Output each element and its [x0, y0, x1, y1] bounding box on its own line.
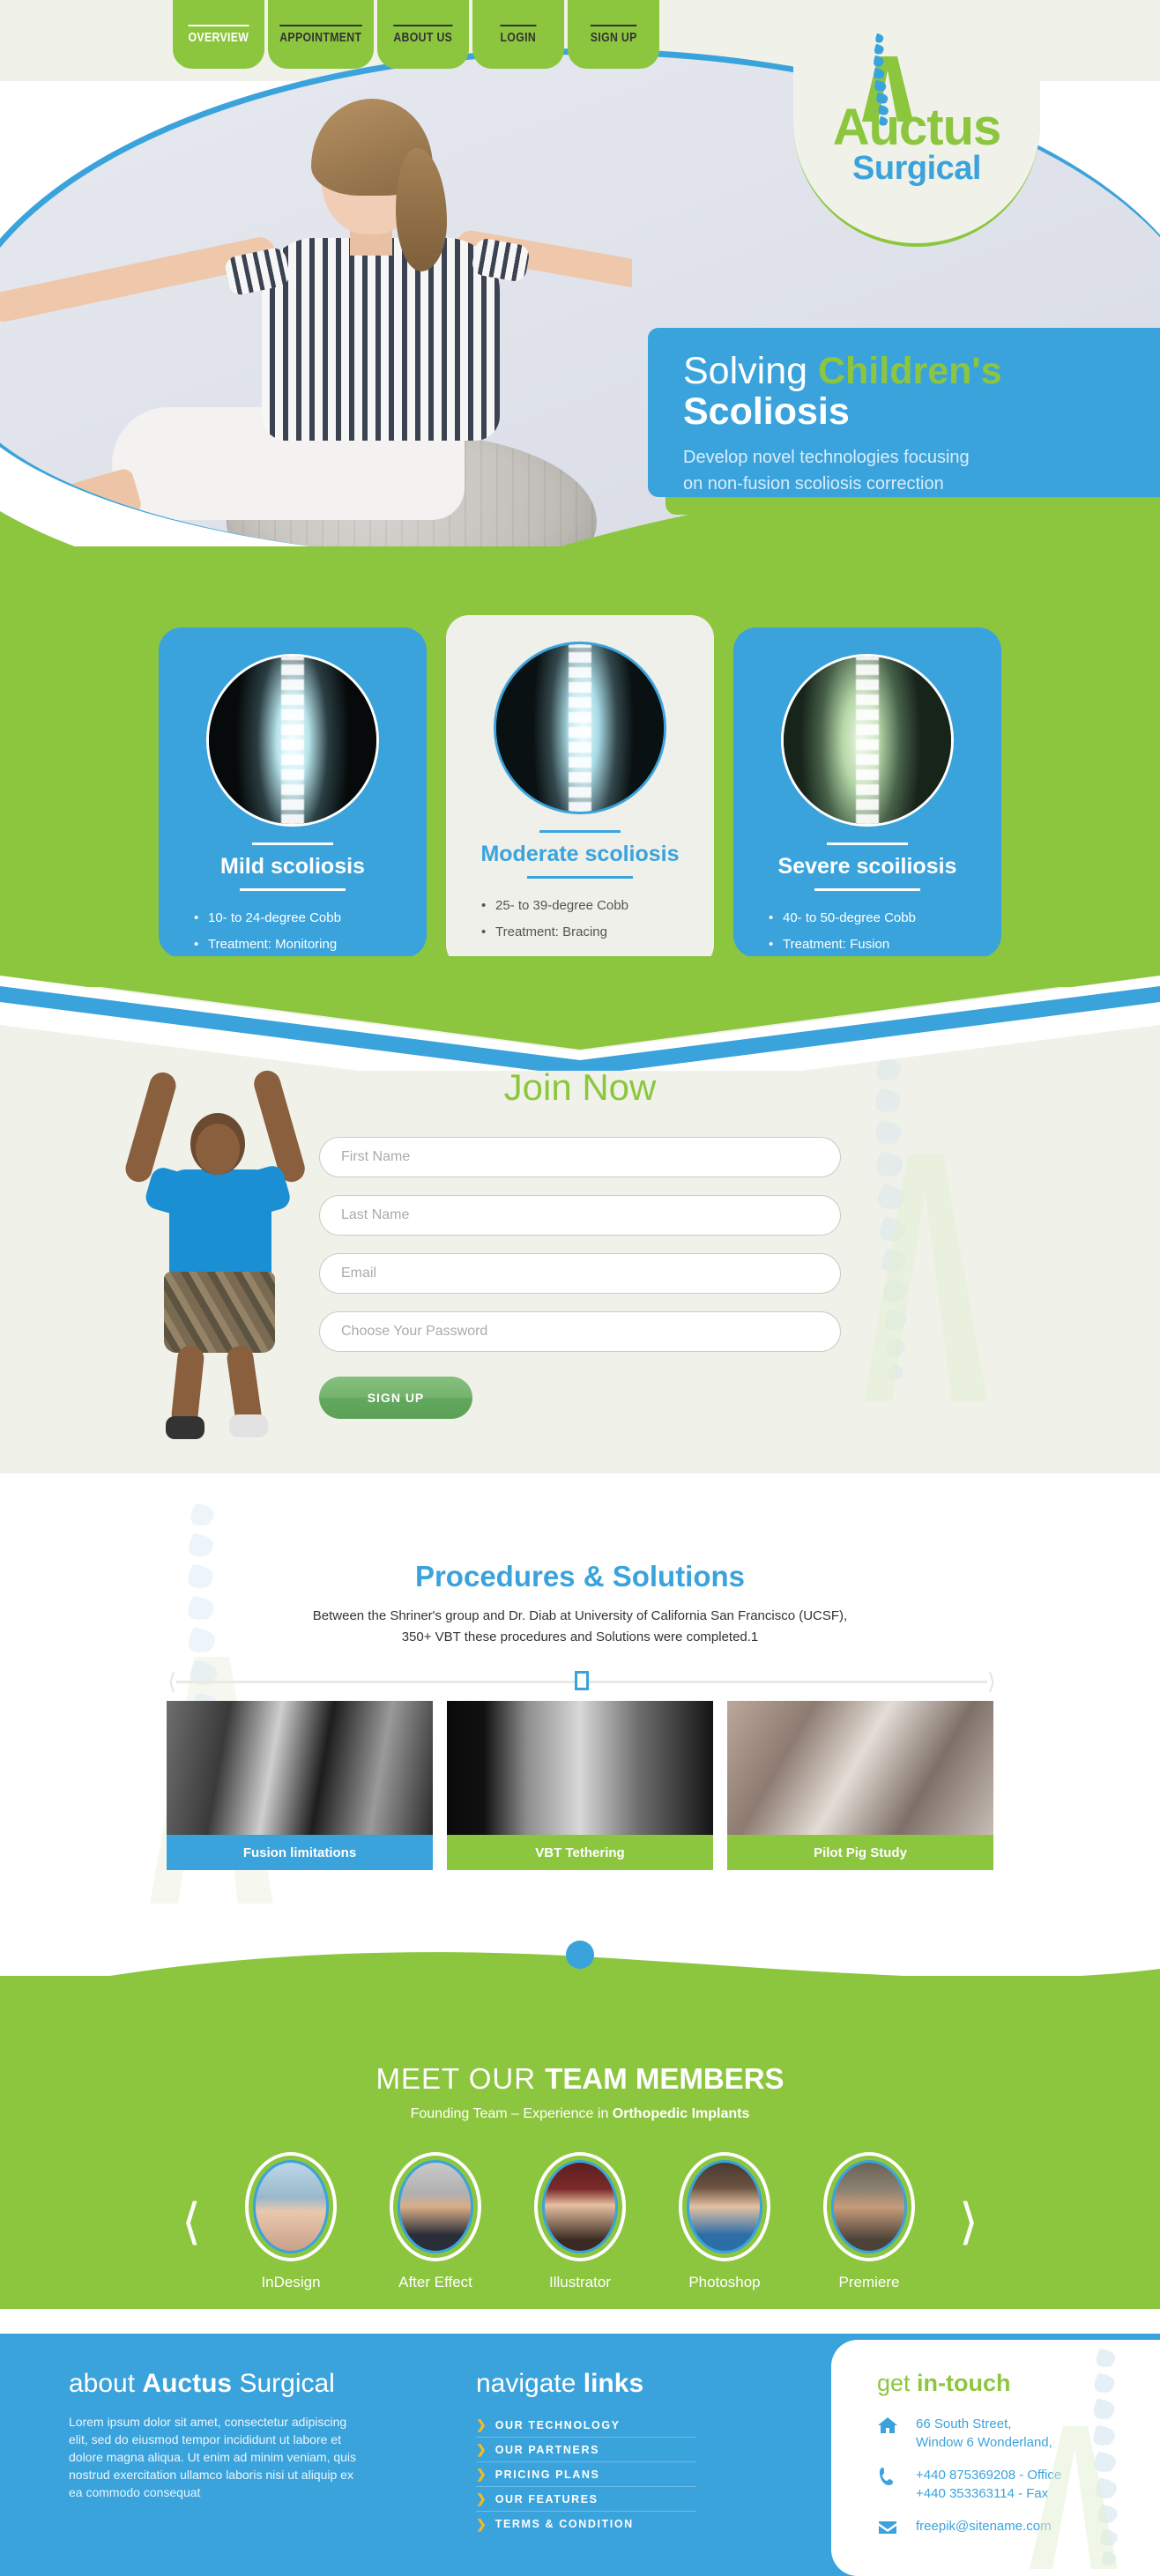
team-subtitle-bold: Orthopedic Implants: [613, 2106, 750, 2121]
nav-item-sign-up[interactable]: SIGN UP: [568, 0, 659, 69]
severity-card-mild[interactable]: Mild scoliosis 10- to 24-degree Cobb Tre…: [159, 627, 427, 958]
severity-card-bullets: 10- to 24-degree Cobb Treatment: Monitor…: [175, 905, 411, 958]
nav-label-about-us: ABOUT US: [394, 25, 453, 45]
hero-subtitle-line1: Develop novel technologies focusing: [683, 444, 1160, 471]
bullet-item: Treatment: Fusion: [783, 932, 985, 958]
chevron-left-icon[interactable]: ⟨: [167, 1670, 176, 1693]
divider-top: [539, 830, 621, 833]
signup-button[interactable]: SIGN UP: [319, 1377, 472, 1419]
team-member-name: Illustrator: [525, 2274, 635, 2291]
hero-title-part1: Solving: [683, 350, 818, 392]
hero-subtitle-line2: on non-fusion scoliosis correction: [683, 471, 1160, 497]
procedures-slider[interactable]: ⟨ ⟩: [167, 1671, 996, 1692]
team-title-light: MEET OUR: [376, 2062, 545, 2095]
footer-navigate-heading: navigate links: [476, 2369, 696, 2399]
get-in-touch-heading-bold: in-touch: [917, 2370, 1010, 2396]
team-member[interactable]: Premiere: [814, 2152, 924, 2291]
hero-title-highlight: Children's: [818, 350, 1002, 392]
logo-name-top: Auctus: [813, 102, 1021, 153]
avatar-ring: [390, 2152, 481, 2261]
avatar: [398, 2160, 473, 2253]
team-title-bold: TEAM MEMBERS: [545, 2062, 784, 2095]
footer-about: about Auctus Surgical Lorem ipsum dolor …: [69, 2369, 360, 2501]
nav-item-about-us[interactable]: ABOUT US: [377, 0, 469, 69]
procedures-description-line2: 350+ VBT these procedures and Solutions …: [0, 1627, 1160, 1648]
hero-banner: Solving Children's Scoliosis Develop nov…: [648, 328, 1160, 497]
footer-link-our-partners[interactable]: ❯ OUR PARTNERS: [476, 2438, 696, 2462]
nav-label-login: LOGIN: [501, 25, 537, 45]
chevron-right-icon: ❯: [476, 2491, 487, 2506]
procedure-card-pilot-pig-study[interactable]: Pilot Pig Study: [727, 1701, 993, 1870]
divider-bottom: [240, 888, 346, 891]
divider-top: [252, 843, 333, 845]
avatar-ring: [679, 2152, 770, 2261]
divider-bottom: [527, 876, 633, 879]
avatar-ring: [534, 2152, 626, 2261]
severity-card-title: Moderate scoliosis: [462, 842, 698, 867]
bullet-item: 40- to 50-degree Cobb: [783, 905, 985, 932]
nav-item-overview[interactable]: OVERVIEW: [173, 0, 264, 69]
nav-item-login[interactable]: LOGIN: [472, 0, 564, 69]
footer-about-heading-post: Surgical: [232, 2369, 335, 2398]
severity-card-severe[interactable]: Severe scoiliosis 40- to 50-degree Cobb …: [733, 627, 1001, 958]
team-wave-divider: [0, 1939, 1160, 2045]
team-next-chevron-right-icon[interactable]: ⟩: [959, 2197, 978, 2246]
envelope-icon: [877, 2517, 900, 2543]
xray-image-mild: [206, 654, 379, 827]
join-photo-boy: [106, 1018, 326, 1459]
footer-about-heading: about Auctus Surgical: [69, 2369, 360, 2399]
last-name-input[interactable]: [319, 1195, 841, 1236]
procedure-image: [727, 1701, 993, 1835]
chevron-right-icon: ❯: [476, 2417, 487, 2432]
nav-label-sign-up: SIGN UP: [591, 25, 637, 45]
phone-icon: [877, 2466, 900, 2491]
team-prev-chevron-left-icon[interactable]: ⟨: [182, 2197, 201, 2246]
footer-link-label: TERMS & CONDITION: [495, 2518, 634, 2530]
avatar-ring: [245, 2152, 337, 2261]
xray-image-severe: [781, 654, 954, 827]
hero-title: Solving Children's Scoliosis: [683, 351, 1160, 432]
footer-link-terms-condition[interactable]: ❯ TERMS & CONDITION: [476, 2512, 696, 2536]
team-member-name: Premiere: [814, 2274, 924, 2291]
team-member[interactable]: Illustrator: [525, 2152, 635, 2291]
team-member-name: After Effect: [381, 2274, 490, 2291]
logo-watermark: [1017, 2375, 1123, 2569]
team-member[interactable]: InDesign: [236, 2152, 346, 2291]
footer-link-pricing-plans[interactable]: ❯ PRICING PLANS: [476, 2462, 696, 2487]
severity-cards: Mild scoliosis 10- to 24-degree Cobb Tre…: [0, 627, 1160, 968]
footer-navigate-heading-bold: links: [584, 2369, 643, 2398]
hero-photo-girl: [0, 63, 632, 560]
severity-card-title: Severe scoiliosis: [749, 854, 985, 880]
nav-label-overview: OVERVIEW: [189, 25, 249, 45]
procedure-caption: VBT Tethering: [447, 1835, 713, 1870]
procedure-cards: Fusion limitations VBT Tethering Pilot P…: [0, 1701, 1160, 1870]
severity-card-bullets: 40- to 50-degree Cobb Treatment: Fusion: [749, 905, 985, 958]
footer-link-our-technology[interactable]: ❯ OUR TECHNOLOGY: [476, 2413, 696, 2438]
team-carousel: ⟨ InDesign After Effect Illustrator Phot…: [0, 2152, 1160, 2291]
logo-name-bottom: Surgical: [813, 150, 1021, 188]
logo-badge[interactable]: Auctus Surgical: [793, 26, 1040, 247]
procedure-image: [167, 1701, 433, 1835]
avatar: [542, 2160, 618, 2253]
chevron-right-icon: ❯: [476, 2517, 487, 2532]
procedure-card-vbt-tethering[interactable]: VBT Tethering: [447, 1701, 713, 1870]
severity-card-bullets: 25- to 39-degree Cobb Treatment: Bracing: [462, 893, 698, 946]
footer-navigate: navigate links ❯ OUR TECHNOLOGY ❯ OUR PA…: [476, 2369, 696, 2536]
footer-get-in-touch: get in-touch 66 South Street, Window 6 W…: [831, 2340, 1160, 2576]
footer-link-label: OUR FEATURES: [495, 2493, 599, 2505]
hero-subtitle: Develop novel technologies focusing on n…: [683, 444, 1160, 497]
bullet-item: 10- to 24-degree Cobb: [208, 905, 411, 932]
nav-label-appointment: APPOINTMENT: [279, 25, 361, 45]
team-subtitle: Founding Team – Experience in Orthopedic…: [0, 2106, 1160, 2122]
footer-link-label: OUR PARTNERS: [495, 2444, 599, 2456]
procedure-caption: Pilot Pig Study: [727, 1835, 993, 1870]
team-member-name: Photoshop: [670, 2274, 779, 2291]
divider-bottom: [814, 888, 920, 891]
footer-navigate-heading-pre: navigate: [476, 2369, 584, 2398]
landing-page: OVERVIEW APPOINTMENT ABOUT US LOGIN SIGN…: [0, 0, 1160, 2576]
email-input[interactable]: [319, 1253, 841, 1294]
footer-about-body: Lorem ipsum dolor sit amet, consectetur …: [69, 2413, 360, 2501]
nav-item-appointment[interactable]: APPOINTMENT: [268, 0, 374, 69]
footer-link-label: PRICING PLANS: [495, 2468, 600, 2481]
footer-about-heading-bold: Auctus: [142, 2369, 232, 2398]
procedures-title: Procedures & Solutions: [0, 1560, 1160, 1593]
chevron-right-icon: ❯: [476, 2467, 487, 2482]
signup-form: SIGN UP: [319, 1137, 841, 1419]
get-in-touch-heading-pre: get: [877, 2370, 917, 2396]
severity-card-title: Mild scoliosis: [175, 854, 411, 880]
avatar-ring: [823, 2152, 915, 2261]
main-navigation: OVERVIEW APPOINTMENT ABOUT US LOGIN SIGN…: [173, 0, 659, 69]
procedures-description-line1: Between the Shriner's group and Dr. Diab…: [0, 1606, 1160, 1627]
avatar: [687, 2160, 762, 2253]
bullet-item: Treatment: Bracing: [495, 919, 698, 946]
slider-handle[interactable]: [575, 1671, 589, 1690]
bullet-item: Treatment: Monitoring: [208, 932, 411, 958]
team-subtitle-light: Founding Team – Experience in: [411, 2106, 613, 2121]
footer-about-heading-pre: about: [69, 2369, 142, 2398]
team-member-name: InDesign: [236, 2274, 346, 2291]
avatar: [831, 2160, 907, 2253]
chevron-right-icon[interactable]: ⟩: [987, 1670, 996, 1693]
divider-top: [827, 843, 908, 845]
procedure-caption: Fusion limitations: [167, 1835, 433, 1870]
first-name-input[interactable]: [319, 1137, 841, 1177]
footer-link-label: OUR TECHNOLOGY: [495, 2419, 621, 2431]
procedure-card-fusion-limitations[interactable]: Fusion limitations: [167, 1701, 433, 1870]
procedure-image: [447, 1701, 713, 1835]
procedures-description: Between the Shriner's group and Dr. Diab…: [0, 1606, 1160, 1648]
chevron-divider: [0, 956, 1160, 1071]
team-member[interactable]: After Effect: [381, 2152, 490, 2291]
severity-card-moderate[interactable]: Moderate scoliosis 25- to 39-degree Cobb…: [446, 615, 714, 968]
team-member[interactable]: Photoshop: [670, 2152, 779, 2291]
footer-link-our-features[interactable]: ❯ OUR FEATURES: [476, 2487, 696, 2512]
hero-title-part2: Scoliosis: [683, 390, 850, 433]
chevron-right-icon: ❯: [476, 2442, 487, 2457]
xray-image-moderate: [494, 642, 666, 814]
bullet-item: 25- to 39-degree Cobb: [495, 893, 698, 919]
team-title: MEET OUR TEAM MEMBERS: [0, 2062, 1160, 2096]
password-input[interactable]: [319, 1311, 841, 1352]
avatar: [253, 2160, 329, 2253]
home-icon: [877, 2415, 900, 2440]
